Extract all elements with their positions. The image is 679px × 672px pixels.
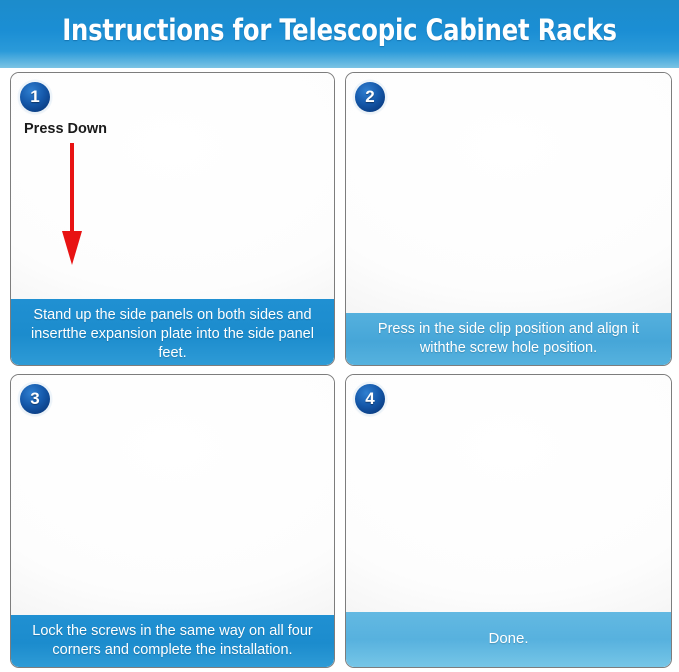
step-badge-3: 3 [20, 384, 50, 414]
press-down-label: Press Down [24, 121, 107, 137]
step-1-caption: Stand up the side panels on both sides a… [11, 299, 334, 365]
step-panel-3: 3 Lock the screws in the same way on all… [10, 374, 335, 668]
step-panel-2: 2 Press in the side clip position and al… [345, 72, 672, 366]
step-3-caption: Lock the screws in the same way on all f… [11, 615, 334, 667]
step-panel-4: 4 Done. [345, 374, 672, 668]
step-panel-1: 1 Press Down Stand up the side panels on… [10, 72, 335, 366]
steps-grid: 1 Press Down Stand up the side panels on… [0, 68, 679, 672]
step-badge-2: 2 [355, 82, 385, 112]
step-2-caption: Press in the side clip position and alig… [346, 313, 671, 365]
step-badge-1: 1 [20, 82, 50, 112]
page-title: Instructions for Telescopic Cabinet Rack… [24, 13, 655, 47]
step-4-caption: Done. [346, 612, 671, 667]
step-badge-4: 4 [355, 384, 385, 414]
title-banner: Instructions for Telescopic Cabinet Rack… [0, 0, 679, 68]
down-arrow-icon [61, 143, 83, 265]
